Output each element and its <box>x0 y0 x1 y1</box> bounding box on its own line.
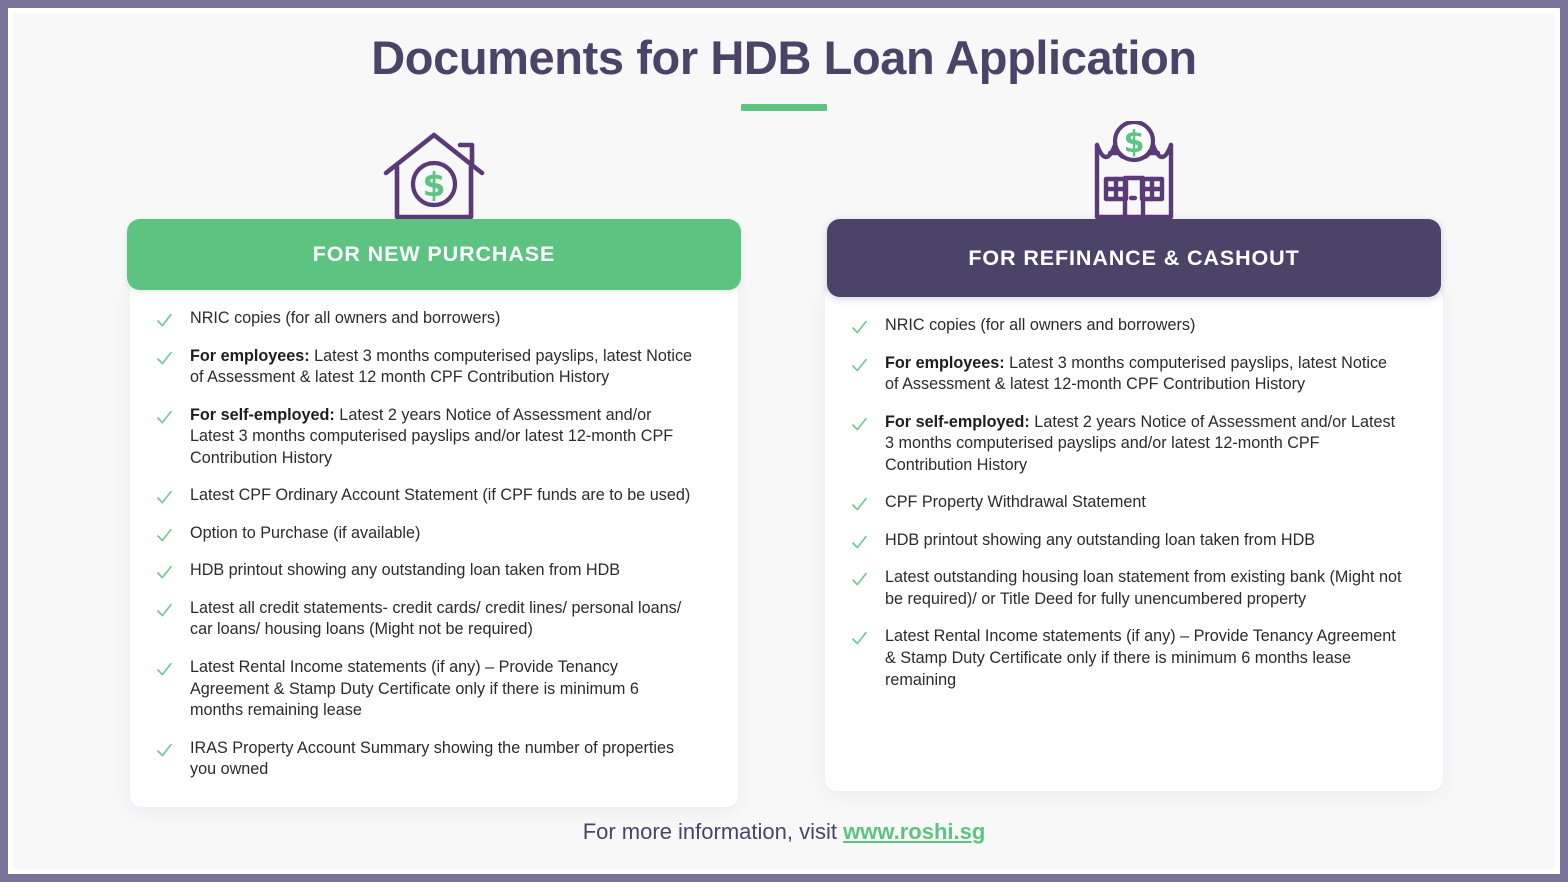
list-item: NRIC copies (for all owners and borrower… <box>156 308 712 330</box>
list-item: For employees: Latest 3 months computeri… <box>156 346 712 389</box>
svg-text:$: $ <box>423 165 446 204</box>
footer-text: For more information, visit <box>583 819 843 844</box>
list-item-body: Latest Rental Income statements (if any)… <box>885 627 1396 688</box>
list-item-body: HDB printout showing any outstanding loa… <box>885 531 1315 549</box>
check-icon <box>156 489 173 506</box>
page-title: Documents for HDB Loan Application <box>13 31 1555 86</box>
list-item-body: Latest all credit statements- credit car… <box>190 599 681 639</box>
check-icon <box>156 409 173 426</box>
list-item-text: Option to Purchase (if available) <box>190 523 420 545</box>
roshi-website-link[interactable]: www.roshi.sg <box>843 819 985 844</box>
poster-frame: Documents for HDB Loan Application $FOR … <box>8 8 1560 874</box>
list-item: CPF Property Withdrawal Statement <box>851 492 1417 514</box>
document-list-new-purchase: NRIC copies (for all owners and borrower… <box>156 308 712 781</box>
title-underline-rule <box>741 104 827 111</box>
list-item: For self-employed: Latest 2 years Notice… <box>851 412 1417 477</box>
list-item-label: For employees: <box>190 347 310 365</box>
list-item-body: HDB printout showing any outstanding loa… <box>190 561 620 579</box>
list-item-text: Latest CPF Ordinary Account Statement (i… <box>190 485 690 507</box>
list-item-body: Latest CPF Ordinary Account Statement (i… <box>190 486 690 504</box>
list-item-text: Latest Rental Income statements (if any)… <box>885 626 1405 691</box>
list-item: Latest CPF Ordinary Account Statement (i… <box>156 485 712 507</box>
list-item-body: NRIC copies (for all owners and borrower… <box>885 316 1195 334</box>
bank-building-with-dollar-icon: $ <box>827 121 1441 221</box>
poster-canvas: Documents for HDB Loan Application $FOR … <box>13 13 1555 869</box>
list-item-text: CPF Property Withdrawal Statement <box>885 492 1146 514</box>
list-item: Latest all credit statements- credit car… <box>156 598 712 641</box>
check-icon <box>851 630 868 647</box>
svg-text:$: $ <box>1124 125 1145 160</box>
columns-container: $FOR NEW PURCHASENRIC copies (for all ow… <box>13 121 1555 807</box>
list-item-text: For employees: Latest 3 months computeri… <box>190 346 695 389</box>
list-item-text: For employees: Latest 3 months computeri… <box>885 353 1405 396</box>
list-item: Option to Purchase (if available) <box>156 523 712 545</box>
list-item-text: HDB printout showing any outstanding loa… <box>885 530 1315 552</box>
check-icon <box>851 416 868 433</box>
list-item-label: For self-employed: <box>885 413 1030 431</box>
column-refinance-cashout: $FOR REFINANCE & CASHOUTNRIC copies (for… <box>827 121 1441 807</box>
check-icon <box>156 661 173 678</box>
list-item-body: Latest outstanding housing loan statemen… <box>885 568 1402 608</box>
bank-building-with-dollar-icon: $ <box>1082 121 1186 221</box>
list-item-text: For self-employed: Latest 2 years Notice… <box>885 412 1405 477</box>
check-icon <box>851 496 868 513</box>
document-card-refinance-cashout: NRIC copies (for all owners and borrower… <box>825 287 1443 791</box>
list-item-body: NRIC copies (for all owners and borrower… <box>190 309 500 327</box>
list-item-body: IRAS Property Account Summary showing th… <box>190 739 674 779</box>
list-item-text: NRIC copies (for all owners and borrower… <box>190 308 500 330</box>
list-item-body: CPF Property Withdrawal Statement <box>885 493 1146 511</box>
list-item-label: For self-employed: <box>190 406 335 424</box>
column-header-new-purchase: FOR NEW PURCHASE <box>127 219 741 290</box>
column-new-purchase: $FOR NEW PURCHASENRIC copies (for all ow… <box>127 121 741 807</box>
list-item-body: Option to Purchase (if available) <box>190 524 420 542</box>
list-item: Latest Rental Income statements (if any)… <box>851 626 1417 691</box>
check-icon <box>851 319 868 336</box>
list-item-text: Latest all credit statements- credit car… <box>190 598 695 641</box>
list-item-text: IRAS Property Account Summary showing th… <box>190 738 695 781</box>
check-icon <box>156 742 173 759</box>
document-list-refinance-cashout: NRIC copies (for all owners and borrower… <box>851 315 1417 691</box>
check-icon <box>851 534 868 551</box>
list-item: HDB printout showing any outstanding loa… <box>156 560 712 582</box>
list-item-text: NRIC copies (for all owners and borrower… <box>885 315 1195 337</box>
check-icon <box>851 571 868 588</box>
check-icon <box>156 350 173 367</box>
list-item-text: Latest outstanding housing loan statemen… <box>885 567 1405 610</box>
house-with-dollar-icon: $ <box>382 129 486 221</box>
list-item: Latest outstanding housing loan statemen… <box>851 567 1417 610</box>
check-icon <box>156 564 173 581</box>
title-block: Documents for HDB Loan Application <box>13 31 1555 111</box>
list-item-body: Latest Rental Income statements (if any)… <box>190 658 639 719</box>
list-item-text: HDB printout showing any outstanding loa… <box>190 560 620 582</box>
check-icon <box>851 357 868 374</box>
check-icon <box>156 527 173 544</box>
list-item-text: Latest Rental Income statements (if any)… <box>190 657 695 722</box>
list-item: For self-employed: Latest 2 years Notice… <box>156 405 712 470</box>
list-item-text: For self-employed: Latest 2 years Notice… <box>190 405 695 470</box>
footer: For more information, visit www.roshi.sg <box>13 819 1555 845</box>
document-card-new-purchase: NRIC copies (for all owners and borrower… <box>130 280 738 807</box>
list-item: NRIC copies (for all owners and borrower… <box>851 315 1417 337</box>
list-item: IRAS Property Account Summary showing th… <box>156 738 712 781</box>
list-item: For employees: Latest 3 months computeri… <box>851 353 1417 396</box>
list-item: Latest Rental Income statements (if any)… <box>156 657 712 722</box>
column-header-refinance-cashout: FOR REFINANCE & CASHOUT <box>827 219 1441 297</box>
house-with-dollar-icon: $ <box>127 121 741 221</box>
list-item-label: For employees: <box>885 354 1005 372</box>
list-item: HDB printout showing any outstanding loa… <box>851 530 1417 552</box>
check-icon <box>156 602 173 619</box>
check-icon <box>156 312 173 329</box>
